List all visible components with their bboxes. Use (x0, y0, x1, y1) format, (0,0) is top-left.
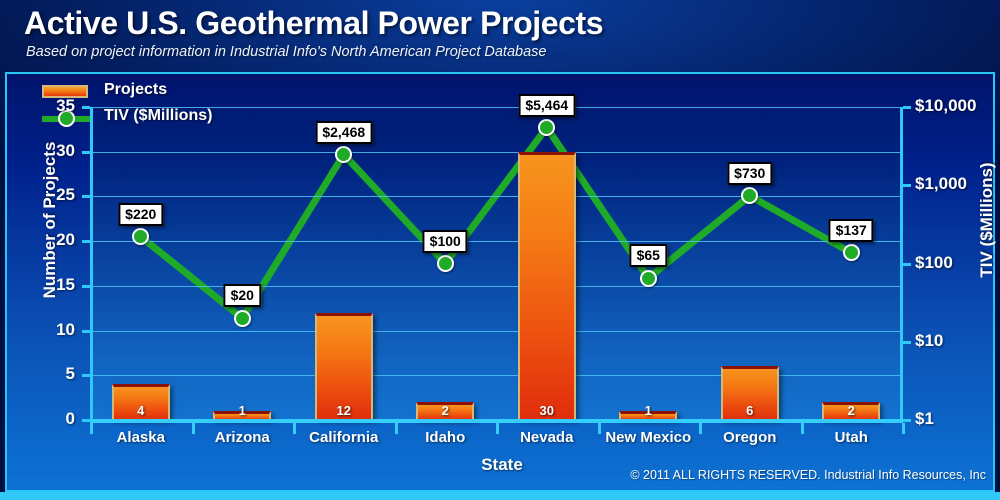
gridline (90, 241, 902, 242)
y-axis-right-tick (903, 184, 911, 187)
line-value-label: $5,464 (518, 94, 575, 117)
y-axis-left-tick-label: 30 (15, 141, 75, 161)
y-axis-right-tick (903, 341, 911, 344)
plot-area: 4112230162$220$20$2,468$100$5,464$65$730… (90, 107, 902, 420)
y-axis-left-tick-label: 25 (15, 185, 75, 205)
y-axis-right-tick (903, 419, 911, 422)
bar-value-label: 12 (317, 403, 371, 418)
line-data-point (234, 310, 251, 327)
y-axis-right-title: TIV ($Millions) (977, 120, 997, 320)
y-axis-right-tick-label: $10 (915, 331, 943, 351)
bar: 30 (518, 152, 576, 420)
line-data-point (640, 270, 657, 287)
bar: 6 (721, 366, 779, 420)
bar: 2 (416, 402, 474, 420)
chart-screenshot: Active U.S. Geothermal Power Projects Ba… (0, 0, 1000, 500)
y-axis-right-tick (903, 106, 911, 109)
x-axis-tick-label: Idaho (395, 429, 497, 446)
y-axis-left-tick (82, 419, 90, 422)
line-data-point (843, 244, 860, 261)
y-axis-right-tick-label: $10,000 (915, 96, 976, 116)
y-axis-left-tick-label: 5 (15, 364, 75, 384)
x-axis-tick-label: Utah (801, 429, 903, 446)
legend-item-label: TIV ($Millions) (104, 107, 212, 125)
gridline (90, 375, 902, 376)
y-axis-left-tick-label: 15 (15, 275, 75, 295)
y-axis-left-tick (82, 240, 90, 243)
y-axis-left-tick (82, 195, 90, 198)
x-axis-tick-label: Arizona (192, 429, 294, 446)
line-data-point (437, 255, 454, 272)
bar-value-label: 1 (215, 403, 269, 418)
y-axis-right-tick-label: $100 (915, 253, 953, 273)
bar-value-label: 1 (621, 403, 675, 418)
header: Active U.S. Geothermal Power Projects Ba… (0, 0, 1000, 72)
chart-panel-inner: 4112230162$220$20$2,468$100$5,464$65$730… (7, 74, 993, 490)
y-axis-left-tick-label: 10 (15, 320, 75, 340)
copyright-notice: © 2011 ALL RIGHTS RESERVED. Industrial I… (630, 468, 986, 482)
line-value-label: $2,468 (315, 121, 372, 144)
bar: 4 (112, 384, 170, 420)
x-axis-tick-label: Alaska (90, 429, 192, 446)
bar-value-label: 2 (418, 403, 472, 418)
y-axis-left-tick (82, 151, 90, 154)
bar-value-label: 30 (520, 403, 574, 418)
y-axis-left-tick (82, 330, 90, 333)
bar-value-label: 6 (723, 403, 777, 418)
x-axis-tick-label: California (293, 429, 395, 446)
line-value-label: $137 (829, 219, 874, 242)
bar-value-label: 4 (114, 403, 168, 418)
y-axis-left-tick-label: 0 (15, 409, 75, 429)
chart-panel: 4112230162$220$20$2,468$100$5,464$65$730… (5, 72, 995, 492)
x-axis-tick-label: New Mexico (598, 429, 700, 446)
gridline (90, 286, 902, 287)
gridline (90, 331, 902, 332)
y-axis-left-tick-label: 35 (15, 96, 75, 116)
x-axis-tick (902, 423, 905, 434)
page-subtitle: Based on project information in Industri… (26, 44, 546, 60)
x-axis-tick-label: Oregon (699, 429, 801, 446)
y-axis-left-tick (82, 106, 90, 109)
legend-item-label: Projects (104, 81, 167, 99)
gridline (90, 152, 902, 153)
y-axis-left-tick-label: 20 (15, 230, 75, 250)
bar: 12 (315, 313, 373, 420)
line-value-label: $65 (630, 244, 667, 267)
line-value-label: $20 (224, 284, 261, 307)
bar-value-label: 2 (824, 403, 878, 418)
page-title: Active U.S. Geothermal Power Projects (24, 5, 603, 42)
tiv-line-series (90, 107, 902, 420)
gridline (90, 196, 902, 197)
line-value-label: $100 (423, 230, 468, 253)
y-axis-left (90, 107, 93, 421)
y-axis-right-tick (903, 263, 911, 266)
bar: 2 (822, 402, 880, 420)
y-axis-left-tick (82, 374, 90, 377)
x-axis-tick-label: Nevada (496, 429, 598, 446)
y-axis-right-tick-label: $1,000 (915, 174, 967, 194)
y-axis-right-tick-label: $1 (915, 409, 934, 429)
y-axis-left-tick (82, 285, 90, 288)
line-value-label: $730 (727, 162, 772, 185)
bottom-accent-bar (0, 492, 1000, 500)
line-value-label: $220 (118, 203, 163, 226)
